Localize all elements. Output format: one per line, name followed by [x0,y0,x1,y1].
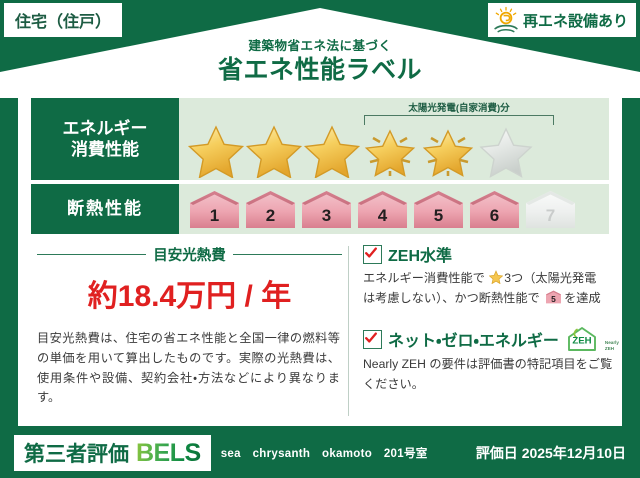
label-subtitle: 建築物省エネ法に基づく [0,40,640,54]
zeh-level-body: エネルギー消費性能で 3つ（太陽光発電 は考慮しない）、かつ断熱性能で 5 [363,269,619,308]
bels-logo: 第三者評価 BELS [14,435,211,471]
utility-cost-column: 目安光熱費 約18.4万円 / 年 目安光熱費は、住宅の省エネ性能と全国一律の燃… [31,240,348,420]
label-footer: 第三者評価 BELS sea chrysanth okamoto 201号室 評… [0,428,640,478]
evaluation-date-value: 2025年12月10日 [522,445,626,461]
star-icon-filled-solar [361,122,419,178]
insulation-grades-area: 1 2 [179,184,609,234]
star-icon-filled [303,122,361,178]
energy-label-line2: 消費性能 [71,139,139,160]
label-title-block: 建築物省エネ法に基づく 省エネ性能ラベル [0,40,640,84]
label-lower-section: 目安光熱費 約18.4万円 / 年 目安光熱費は、住宅の省エネ性能と全国一律の燃… [31,240,609,420]
svg-text:5: 5 [551,294,556,304]
zeh-logo-subtext-line2: ZEH [605,346,614,351]
evaluation-date: 評価日 2025年12月10日 [476,443,626,463]
zeh-body-text-4: を達成 [564,291,601,305]
star-icon-empty [477,122,535,178]
grade-badge: 3 [299,189,354,229]
grade-badge-number: 3 [299,206,354,226]
zeh-body-text-1: エネルギー消費性能で [363,271,485,285]
svg-text:ZEH: ZEH [572,336,591,347]
utility-cost-heading-label: 目安光熱費 [153,244,226,265]
star-icon-filled-solar [419,122,477,178]
grade-badge: 5 [411,189,466,229]
net-zero-block: ネット・ゼロ・エネルギー ZEH Nearly ZEH [363,326,619,394]
heading-rule-right [233,254,342,256]
zeh-logo-subtext-line1: Nearly [605,340,619,345]
insulation-label-text: 断熱性能 [67,198,143,219]
property-address: sea chrysanth okamoto 201号室 [221,445,428,461]
housing-type-badge: 住宅（住戸） [4,3,122,37]
grade-badge-number: 5 [411,206,466,226]
grade-badge-number: 2 [243,206,298,226]
grade-badge: 1 [187,189,242,229]
grade-badge: 4 [355,189,410,229]
utility-cost-note: 目安光熱費は、住宅の省エネ性能と全国一律の燃料等の単価を用いて算出したものです。… [37,329,340,408]
grade-badge-number: 6 [467,206,522,226]
housing-type-label: 住宅（住戸） [15,8,111,32]
utility-cost-heading: 目安光熱費 [31,240,348,265]
grade-badge-inactive: 7 [523,189,578,229]
grade-badge: 6 [467,189,522,229]
energy-label-line1: エネルギー [63,118,148,139]
zeh-body-text-3: は考慮しない）、かつ断熱性能で [363,291,540,305]
zeh-logo-subtext: Nearly ZEH [605,340,619,351]
checkmark-icon [363,330,382,349]
zeh-level-heading: ZEH水準 [363,242,619,266]
grade-badge-number: 1 [187,206,242,226]
grade-badge: 2 [243,189,298,229]
label-card: エネルギー 消費性能 太陽光発電(自家消費)分 [18,88,622,426]
heading-rule-left [37,254,146,256]
star-icon-filled [245,122,303,178]
solar-annotation-label: 太陽光発電(自家消費)分 [364,100,554,114]
renewable-equipment-badge: 再エネ設備あり [488,3,636,37]
zeh-house-logo-icon: ZEH [565,326,599,352]
energy-performance-row: エネルギー 消費性能 太陽光発電(自家消費)分 [31,98,609,180]
grade-badge-inline: 5 [545,290,562,304]
bels-en-label: BELS [136,439,201,468]
grade-badge-number: 7 [523,206,578,226]
grade-badge-number: 4 [355,206,410,226]
bels-jp-label: 第三者評価 [24,438,129,468]
renewable-badge-label: 再エネ設備あり [523,10,628,31]
checkmark-icon [363,245,382,264]
label-title: 省エネ性能ラベル [0,57,640,85]
evaluation-date-label: 評価日 [476,445,518,461]
net-zero-heading: ネット・ゼロ・エネルギー ZEH Nearly ZEH [363,326,619,352]
net-zero-body: Nearly ZEH の要件は評価書の特記項目をご覧ください。 [363,355,619,394]
zeh-level-title: ZEH水準 [388,242,452,266]
star-icon-inline [489,270,503,284]
utility-cost-value: 約18.4万円 / 年 [31,271,348,315]
energy-label-root: 住宅（住戸） 再エネ設備あり 建築物省エネ法に基づく 省エネ性能ラベル [0,0,640,478]
net-zero-title: ネット・ゼロ・エネルギー [388,327,559,351]
star-rating [187,122,605,178]
insulation-performance-row: 断熱性能 [31,184,609,234]
zeh-column: ZEH水準 エネルギー消費性能で 3つ（太陽光発電 は考慮しない）、かつ断熱性能… [349,240,619,420]
star-icon-filled [187,122,245,178]
insulation-performance-label: 断熱性能 [31,184,179,234]
energy-stars-area: 太陽光発電(自家消費)分 [179,98,609,180]
energy-performance-label: エネルギー 消費性能 [31,98,179,180]
solar-sun-icon [492,6,520,34]
zeh-body-text-2: 3つ（太陽光発電 [504,271,596,285]
grade-badge-list: 1 2 [187,184,605,234]
zeh-level-block: ZEH水準 エネルギー消費性能で 3つ（太陽光発電 は考慮しない）、かつ断熱性能… [363,242,619,308]
